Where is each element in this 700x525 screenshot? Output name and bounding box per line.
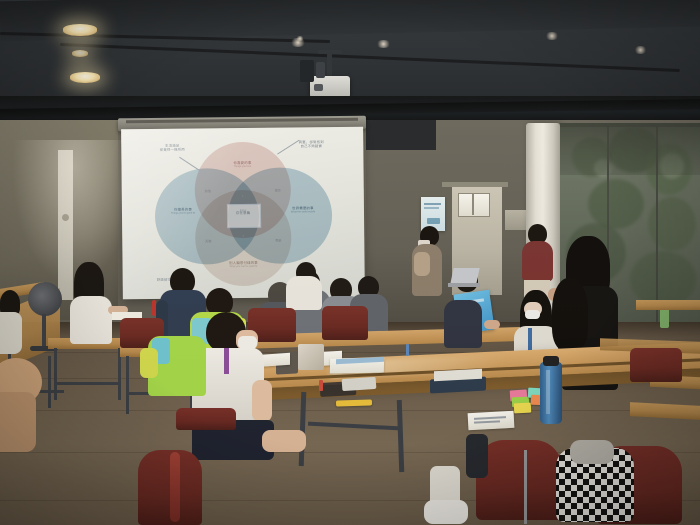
ceiling-light <box>296 36 304 41</box>
door-window <box>458 193 490 217</box>
side-table <box>636 300 700 310</box>
chair-highlight <box>170 452 180 522</box>
arm <box>252 380 272 422</box>
ceiling-light <box>545 32 559 40</box>
projector-mount <box>327 52 332 78</box>
brown-chair <box>630 348 682 382</box>
wall-poster-block <box>427 218 440 224</box>
laptop-base <box>448 283 480 287</box>
desk-leg <box>48 356 51 408</box>
leg <box>262 430 306 452</box>
ceiling-light <box>63 24 97 36</box>
desk-leg <box>126 356 129 414</box>
wall-poster-text-line <box>424 207 439 209</box>
blue-water-bottle <box>540 362 562 424</box>
ceiling-light <box>376 40 391 48</box>
brown-chair <box>176 408 236 430</box>
brown-chair <box>476 440 562 520</box>
fan-stand <box>42 314 46 348</box>
backpack-top-handle <box>570 440 614 464</box>
screen-glare <box>121 127 365 300</box>
ceiling-light <box>70 72 100 83</box>
red-glue-stick <box>319 380 323 391</box>
wall-shadow <box>366 120 436 150</box>
wall-poster-text-line <box>424 203 441 205</box>
bottle-highlight <box>546 370 550 414</box>
wall-panel <box>505 210 527 230</box>
patterned-pouch <box>298 344 324 370</box>
leg <box>466 434 488 478</box>
door-header <box>442 182 508 187</box>
desk-leg <box>54 348 57 400</box>
projector-bracket <box>316 62 325 78</box>
ceiling-light <box>634 46 647 54</box>
bottle-cap <box>543 356 559 366</box>
wall-light-glow <box>10 140 125 290</box>
electric-fan <box>28 282 62 316</box>
plastic-bag <box>342 377 377 391</box>
yellow-phone <box>336 399 372 406</box>
pen <box>406 344 409 356</box>
window-blind-upper <box>560 123 700 175</box>
desk-rail <box>56 382 120 385</box>
ceiling-light <box>72 50 88 57</box>
classroom-photo: Ikigai 存在意義 你喜愛的事 Things you love 你擅長的事 … <box>0 0 700 525</box>
brown-chair <box>322 306 368 340</box>
white-sneaker <box>424 500 468 524</box>
laptop <box>450 268 479 284</box>
chair-leg <box>524 450 527 524</box>
projector-screen: Ikigai 存在意義 你喜愛的事 Things you love 你擅長的事 … <box>121 127 365 300</box>
lanyard <box>224 348 229 374</box>
face-mask <box>525 310 540 319</box>
sticky-note-stack <box>514 403 532 414</box>
projector-bracket <box>300 60 314 82</box>
door-mullion <box>472 193 474 215</box>
projector-lens-icon <box>314 84 323 91</box>
